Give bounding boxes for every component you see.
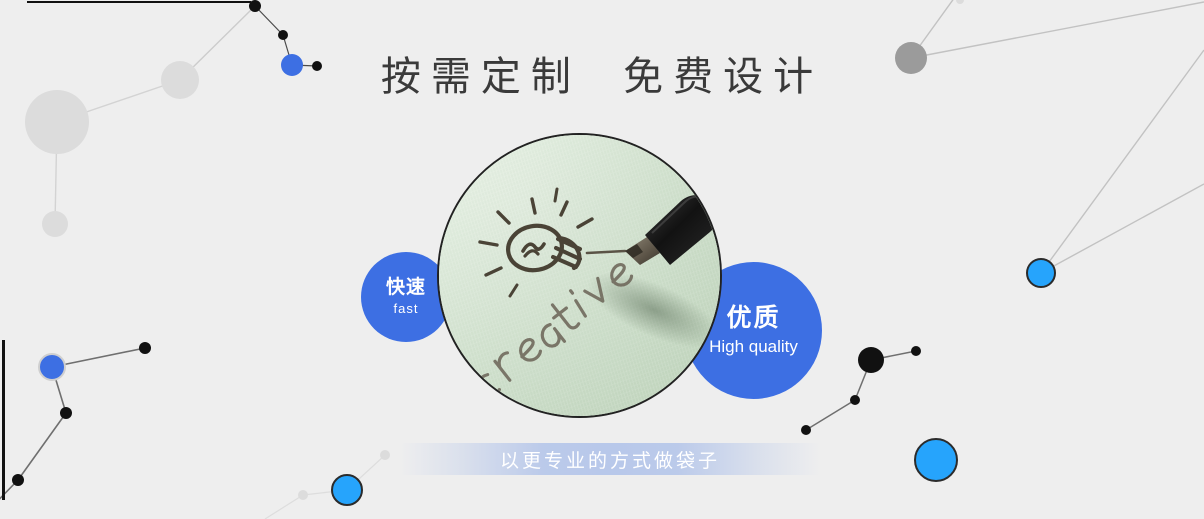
- network-node-n18: [911, 346, 921, 356]
- promo-banner: 按需定制 免费设计 快速 fast 优质 High quality: [0, 0, 1204, 519]
- network-node-n13: [298, 490, 308, 500]
- network-node-n11: [12, 474, 24, 486]
- creative-photo-circle: [437, 133, 722, 418]
- network-node-n19: [850, 395, 860, 405]
- network-node-n17: [858, 347, 884, 373]
- feature-quality-title-en: High quality: [709, 337, 798, 357]
- top-edge-line: [27, 1, 251, 3]
- left-edge-bar: [2, 340, 5, 500]
- page-title: 按需定制 免费设计: [0, 44, 1204, 102]
- network-edge: [871, 351, 916, 360]
- network-edge: [55, 122, 57, 224]
- feature-fast-title-cn: 快速: [386, 277, 426, 299]
- network-edge: [855, 360, 871, 400]
- sub-banner: 以更专业的方式做袋子: [400, 443, 820, 475]
- network-edge: [52, 367, 66, 413]
- network-node-n8: [39, 354, 65, 380]
- network-node-n16: [1027, 259, 1055, 287]
- photo-artwork: [439, 135, 720, 416]
- network-node-n3: [42, 211, 68, 237]
- network-edge: [18, 413, 66, 480]
- network-node-n21: [915, 439, 957, 481]
- network-node-n20: [801, 425, 811, 435]
- network-edge: [806, 400, 855, 430]
- network-node-n14: [380, 450, 390, 460]
- network-edge: [303, 490, 347, 495]
- network-node-n5: [278, 30, 288, 40]
- network-edge: [1041, 184, 1204, 273]
- sub-banner-text: 以更专业的方式做袋子: [500, 446, 720, 473]
- feature-quality-title-cn: 优质: [726, 304, 780, 333]
- network-node-n9: [139, 342, 151, 354]
- network-edge: [52, 348, 145, 367]
- network-node-n22: [956, 0, 964, 4]
- network-edge: [265, 495, 303, 519]
- network-node-n12: [332, 475, 362, 505]
- network-edge: [347, 455, 385, 490]
- network-node-n10: [60, 407, 72, 419]
- network-edge: [255, 6, 283, 35]
- feature-fast-title-en: fast: [394, 302, 419, 317]
